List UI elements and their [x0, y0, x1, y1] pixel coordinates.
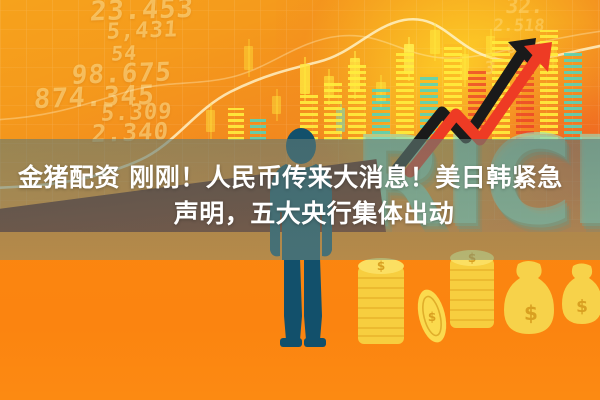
chart-bar	[324, 80, 342, 140]
news-banner-image: 23.453 5,431 54 98.675 874.345 5.309 2.3…	[0, 0, 600, 400]
chart-bar	[228, 108, 244, 140]
chart-bar	[300, 94, 318, 140]
chart-bar	[444, 44, 462, 140]
chart-bar	[564, 50, 582, 140]
headline-line-2: 声明，五大央行集体出动	[18, 196, 582, 232]
chart-bar	[348, 62, 366, 140]
headline-line-1: 金猪配资 刚刚！人民币传来大消息！美日韩紧急	[18, 160, 582, 196]
chart-bar	[540, 30, 558, 140]
foreground-orange-panel	[0, 232, 600, 400]
headline-text: 金猪配资 刚刚！人民币传来大消息！美日韩紧急 声明，五大央行集体出动	[18, 160, 582, 233]
chart-bar	[372, 88, 390, 140]
chart-bar	[396, 52, 414, 140]
chart-bar	[420, 74, 438, 140]
chart-bar	[468, 68, 486, 140]
chart-bar	[516, 56, 534, 140]
chart-bar	[492, 38, 510, 140]
chart-bar	[250, 116, 266, 140]
